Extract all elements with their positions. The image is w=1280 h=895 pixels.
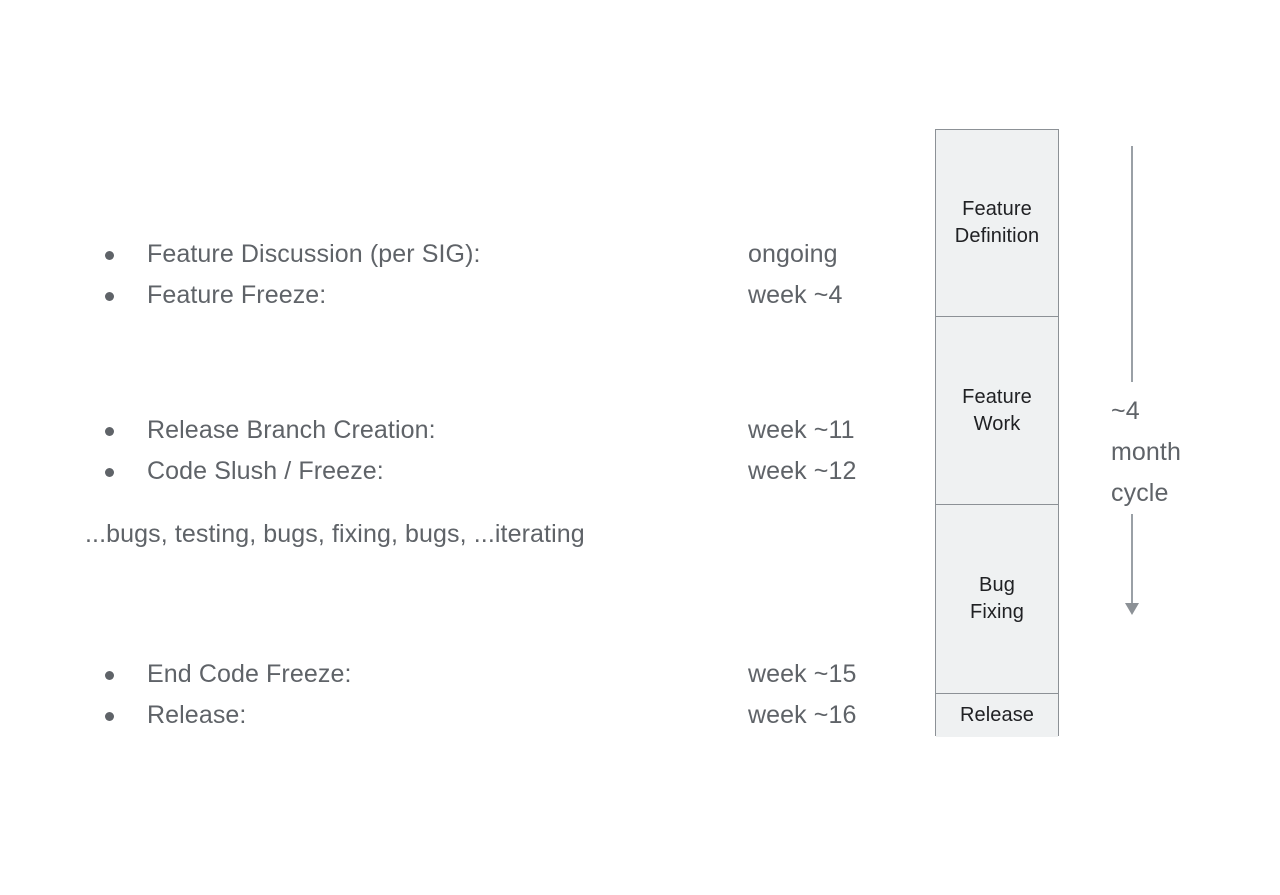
list-item: Code Slush / Freeze: week ~12 (90, 451, 890, 492)
milestone-timing: week ~15 (748, 654, 857, 695)
phase-segment-release: Release (936, 693, 1058, 737)
phase-segment-feature-work: Feature Work (936, 316, 1058, 504)
phase-label: Release (960, 702, 1034, 729)
phase-segment-feature-definition: Feature Definition (936, 130, 1058, 316)
bullet-dot-icon (105, 671, 114, 680)
list-item: Feature Freeze: week ~4 (90, 275, 890, 316)
phase-label-line: Feature (955, 196, 1039, 223)
phase-segment-bug-fixing: Bug Fixing (936, 504, 1058, 693)
schedule-group-release: End Code Freeze: week ~15 Release: week … (90, 654, 890, 736)
list-item: Release: week ~16 (90, 695, 890, 736)
slide-canvas: Feature Discussion (per SIG): ongoing Fe… (0, 0, 1280, 895)
list-item: Feature Discussion (per SIG): ongoing (90, 234, 890, 275)
phase-label-line: Fixing (970, 599, 1024, 626)
milestone-timing: week ~11 (748, 410, 855, 451)
milestone-timing: week ~16 (748, 695, 857, 736)
phase-label: Feature Definition (955, 196, 1039, 250)
cycle-duration-annotation: ~4 month cycle (1090, 129, 1250, 736)
iterating-note: ...bugs, testing, bugs, fixing, bugs, ..… (85, 520, 585, 549)
schedule-group-feature: Feature Discussion (per SIG): ongoing Fe… (90, 234, 890, 316)
arrow-line-lower (1131, 514, 1133, 609)
phase-label-line: Release (960, 702, 1034, 729)
bullet-dot-icon (105, 251, 114, 260)
phase-label-line: Bug (970, 572, 1024, 599)
milestone-label: Feature Freeze: (147, 275, 326, 316)
list-item: End Code Freeze: week ~15 (90, 654, 890, 695)
bullet-dot-icon (105, 427, 114, 436)
phase-label: Feature Work (962, 384, 1032, 438)
milestone-label: Release: (147, 695, 246, 736)
cycle-text-line: month (1111, 432, 1181, 473)
milestone-label: Feature Discussion (per SIG): (147, 234, 481, 275)
milestone-timing: week ~4 (748, 275, 843, 316)
milestone-timing: week ~12 (748, 451, 857, 492)
cycle-text-line: ~4 (1111, 391, 1181, 432)
milestone-label: Release Branch Creation: (147, 410, 436, 451)
milestone-label: Code Slush / Freeze: (147, 451, 384, 492)
bullet-dot-icon (105, 712, 114, 721)
release-schedule-list: Feature Discussion (per SIG): ongoing Fe… (0, 0, 900, 895)
phase-label: Bug Fixing (970, 572, 1024, 626)
phase-label-line: Definition (955, 223, 1039, 250)
bullet-dot-icon (105, 292, 114, 301)
release-phase-bar: Feature Definition Feature Work Bug Fixi… (935, 129, 1059, 736)
phase-label-line: Work (962, 411, 1032, 438)
phase-label-line: Feature (962, 384, 1032, 411)
arrow-line-upper (1131, 146, 1133, 382)
bullet-dot-icon (105, 468, 114, 477)
cycle-text-line: cycle (1111, 473, 1181, 514)
cycle-duration-text: ~4 month cycle (1111, 391, 1181, 514)
down-arrow-icon (1125, 603, 1139, 615)
milestone-timing: ongoing (748, 234, 838, 275)
schedule-group-branch: Release Branch Creation: week ~11 Code S… (90, 410, 890, 492)
milestone-label: End Code Freeze: (147, 654, 352, 695)
list-item: Release Branch Creation: week ~11 (90, 410, 890, 451)
